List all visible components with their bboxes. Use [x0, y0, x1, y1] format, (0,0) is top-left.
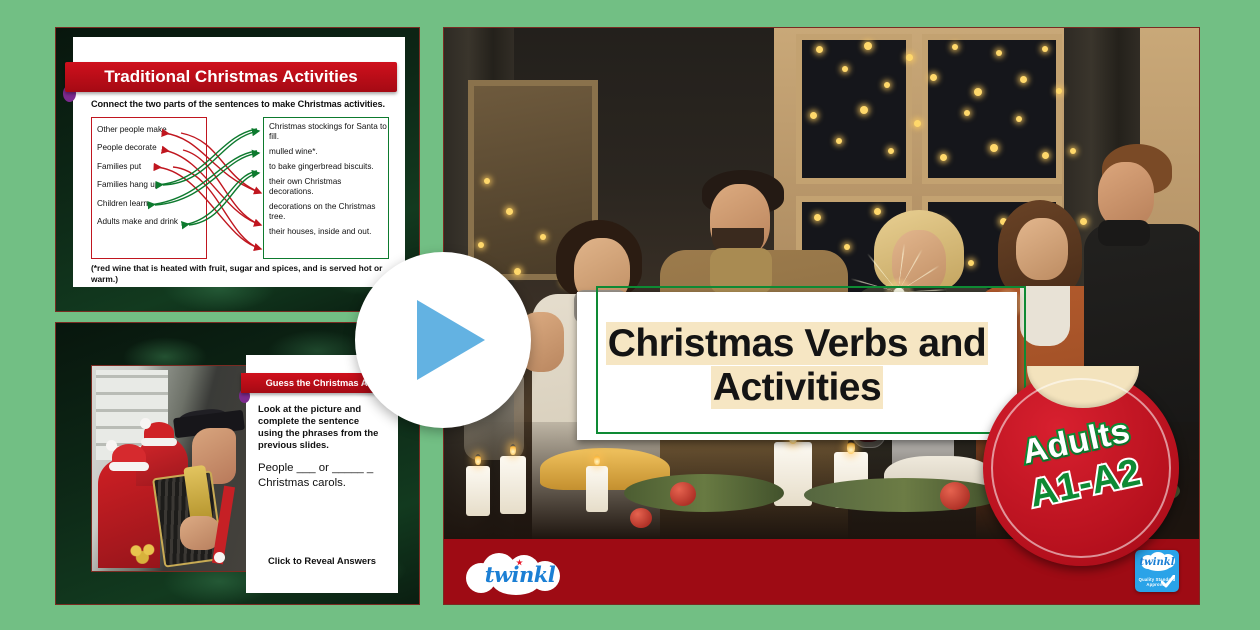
thumbnail-1-instruction: Connect the two parts of the sentences t… [91, 99, 391, 109]
twinkl-wordmark: twinkl [478, 562, 562, 587]
thumbnail-1-title-banner: Traditional Christmas Activities [65, 62, 397, 92]
slideshow-preview: Traditional Christmas Activities Connect… [0, 0, 1260, 630]
play-triangle-icon [417, 300, 485, 380]
checkmark-icon [1161, 575, 1175, 589]
thumbnail-1-sheet: Traditional Christmas Activities Connect… [73, 37, 405, 287]
page-title: Christmas Verbs and Activities [577, 292, 1017, 440]
thumbnail-2-sentence: People ___ or _____ _ Christmas carols. [258, 461, 394, 491]
reveal-answers-label[interactable]: Click to Reveal Answers [246, 555, 398, 566]
level-badge: Adults A1-A2 [983, 370, 1179, 566]
matching-exercise: Other people make People decorate Famili… [91, 117, 389, 259]
title-line-2: Activities [711, 366, 883, 409]
play-button[interactable] [355, 252, 531, 428]
twinkl-cloud-logo: twinkl [466, 553, 566, 595]
title-line-1: Christmas Verbs and [606, 322, 988, 365]
matching-connector-arrows [91, 117, 389, 259]
thumbnail-2-photo [91, 365, 248, 572]
